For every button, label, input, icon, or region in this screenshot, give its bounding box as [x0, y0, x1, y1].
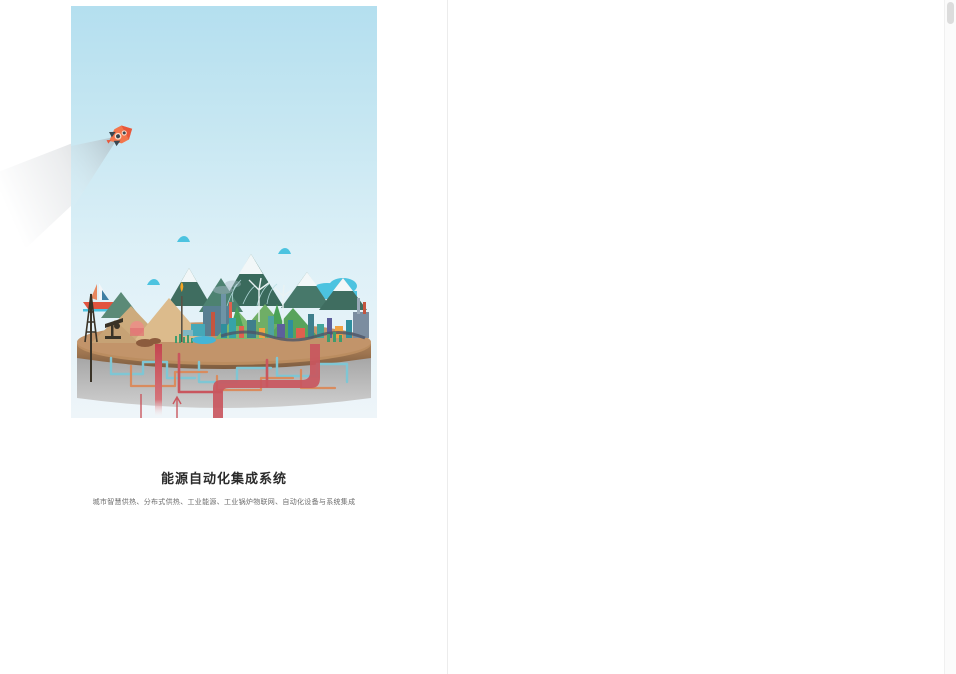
caption-title: 能源自动化集成系统 [71, 470, 377, 488]
left-page-caption: 能源自动化集成系统 城市智慧供热、分布式供热、工业能源、工业锅炉物联网、自动化设… [71, 470, 377, 508]
document-viewer[interactable]: 能源自动化集成系统 城市智慧供热、分布式供热、工业能源、工业锅炉物联网、自动化设… [0, 0, 956, 674]
left-page-sheet: 能源自动化集成系统 城市智慧供热、分布式供热、工业能源、工业锅炉物联网、自动化设… [0, 0, 448, 674]
vertical-scrollbar-track[interactable] [944, 0, 956, 674]
caption-subtitle: 城市智慧供热、分布式供热、工业能源、工业锅炉物联网、自动化设备与系统集成 [71, 497, 377, 508]
vertical-scrollbar-thumb[interactable] [947, 2, 954, 24]
energy-landscape-illustration [71, 6, 377, 418]
right-page-sheet: 目录 Contents • 公司简介 • 发展历程 • 智慧锅炉系统 工业锅炉控… [448, 0, 956, 674]
flow-direction-arrows [137, 394, 181, 418]
